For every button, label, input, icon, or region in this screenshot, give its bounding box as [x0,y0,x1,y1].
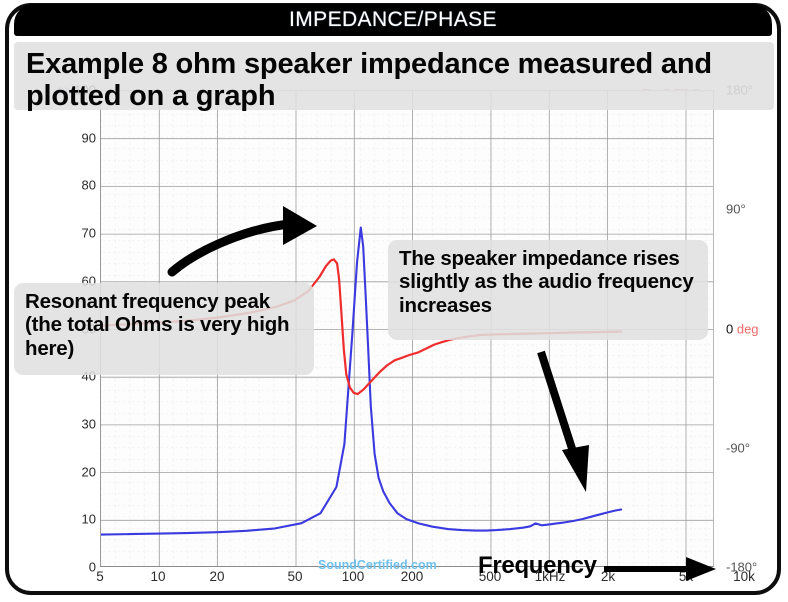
y-tick: 70 [82,226,96,241]
x-tick: 5k [679,569,693,584]
site-watermark: SoundCertified.com [318,558,437,572]
x-tick: 20 [209,569,224,584]
frequency-axis-label: Frequency [478,552,597,580]
y-axis-right-ticks: 180° 90° 0 deg -90° -180° [716,90,786,567]
x-tick: 50 [287,569,302,584]
x-axis-ticks: 5 10 20 50 100 200 500 1kHz 2k 5k 10k 20… [100,569,716,595]
callout-impedance-rises: The speaker impedance rises slightly as … [388,240,708,340]
y-tick: 90 [82,130,96,145]
y-tick: 20 [82,464,96,479]
window-titlebar: IMPEDANCE/PHASE [14,4,772,36]
page-title: Example 8 ohm speaker impedance measured… [14,42,774,110]
y-tick: 0 [89,560,96,575]
window-title: IMPEDANCE/PHASE [289,8,497,32]
x-tick: 5 [96,569,104,584]
y-tick: 10 [82,512,96,527]
y-tick: 80 [82,178,96,193]
phase-tick-zero: 0 deg [726,321,759,336]
callout-resonant-peak: Resonant frequency peak (the total Ohms … [14,283,314,375]
y-tick: 30 [82,416,96,431]
x-tick: 2k [601,569,615,584]
screenshot-root: IMPEDANCE/PHASE Ohms DATS 100 90 80 70 6… [0,0,788,602]
phase-tick: -90° [726,440,750,455]
phase-tick: 90° [726,202,746,217]
x-tick: 10 [150,569,165,584]
x-tick: 10k [733,569,755,584]
